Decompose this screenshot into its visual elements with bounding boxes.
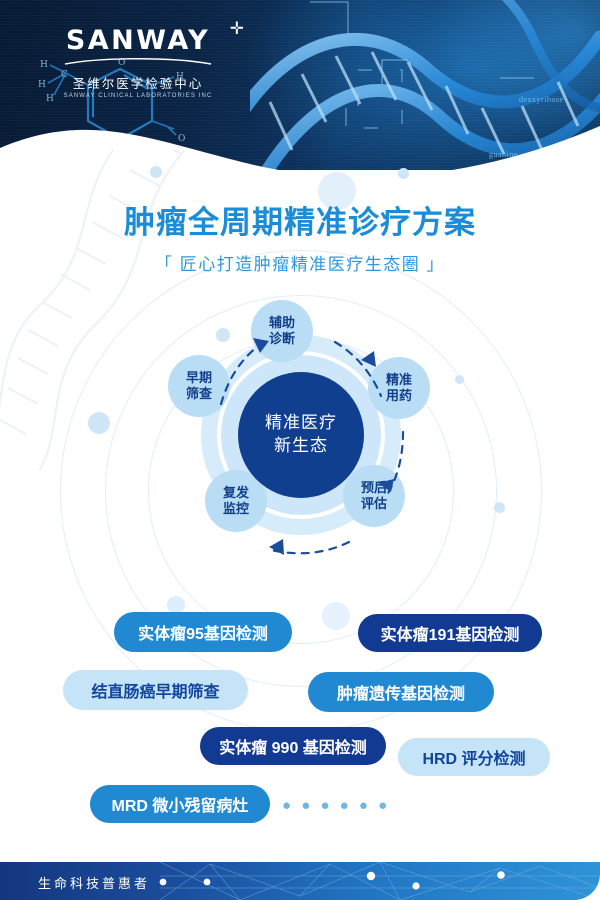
decor-dot-8 xyxy=(322,602,350,630)
precision-medicine-cycle: 辅助 诊断 精准 用药 预后 评估 复发 监控 早期 筛查 xyxy=(165,300,437,575)
page-subtitle: 「 匠心打造肿瘤精准医疗生态圈 」 xyxy=(0,250,600,275)
cycle-center-line2: 新生态 xyxy=(274,435,328,458)
service-pill-mrd[interactable]: MRD 微小残留病灶 xyxy=(90,785,270,823)
logo-brand-text: SANWAY xyxy=(66,27,210,54)
service-pill-colorectal-screening[interactable]: 结直肠癌早期筛查 xyxy=(63,670,248,710)
decor-dot-5 xyxy=(150,166,162,178)
cycle-center-label: 精准医疗 新生态 xyxy=(238,372,364,498)
header-banner: HHH C HN O N O deoxyribose guanine SANWA… xyxy=(0,0,600,170)
more-services-ellipsis: ● ● ● ● ● ● xyxy=(282,797,390,814)
cycle-center-line1: 精准医疗 xyxy=(265,412,337,435)
decor-dot-3 xyxy=(88,412,110,434)
footer-bar: 生命科技普惠者 xyxy=(0,862,600,900)
decor-dot-7 xyxy=(494,502,505,513)
plus-cross-icon: ✛ xyxy=(230,19,244,39)
logo-cn-name: 圣维尔医学检验中心 xyxy=(48,73,228,92)
service-pill-solid-tumor-191[interactable]: 实体瘤191基因检测 xyxy=(358,614,542,652)
service-pill-solid-tumor-95[interactable]: 实体瘤95基因检测 xyxy=(114,612,292,652)
decor-dot-2 xyxy=(398,168,409,179)
title-block: 肿瘤全周期精准诊疗方案 「 匠心打造肿瘤精准医疗生态圈 」 xyxy=(0,205,600,275)
poster-root: HHH C HN O N O deoxyribose guanine SANWA… xyxy=(0,0,600,900)
logo-swoosh-divider xyxy=(63,57,213,67)
service-pill-solid-tumor-990[interactable]: 实体瘤 990 基因检测 xyxy=(200,727,386,765)
page-title: 肿瘤全周期精准诊疗方案 xyxy=(0,205,600,241)
footer-slogan: 生命科技普惠者 xyxy=(38,873,150,892)
decor-dot-6 xyxy=(455,375,464,384)
service-pill-hrd-score[interactable]: HRD 评分检测 xyxy=(398,738,550,776)
service-pill-hereditary-gene[interactable]: 肿瘤遗传基因检测 xyxy=(308,672,494,712)
svg-text:H: H xyxy=(38,80,46,90)
svg-text:H: H xyxy=(40,60,48,70)
company-logo: SANWAY ✛ 圣维尔医学检验中心 SANWAY CLINICAL LABOR… xyxy=(48,27,228,99)
